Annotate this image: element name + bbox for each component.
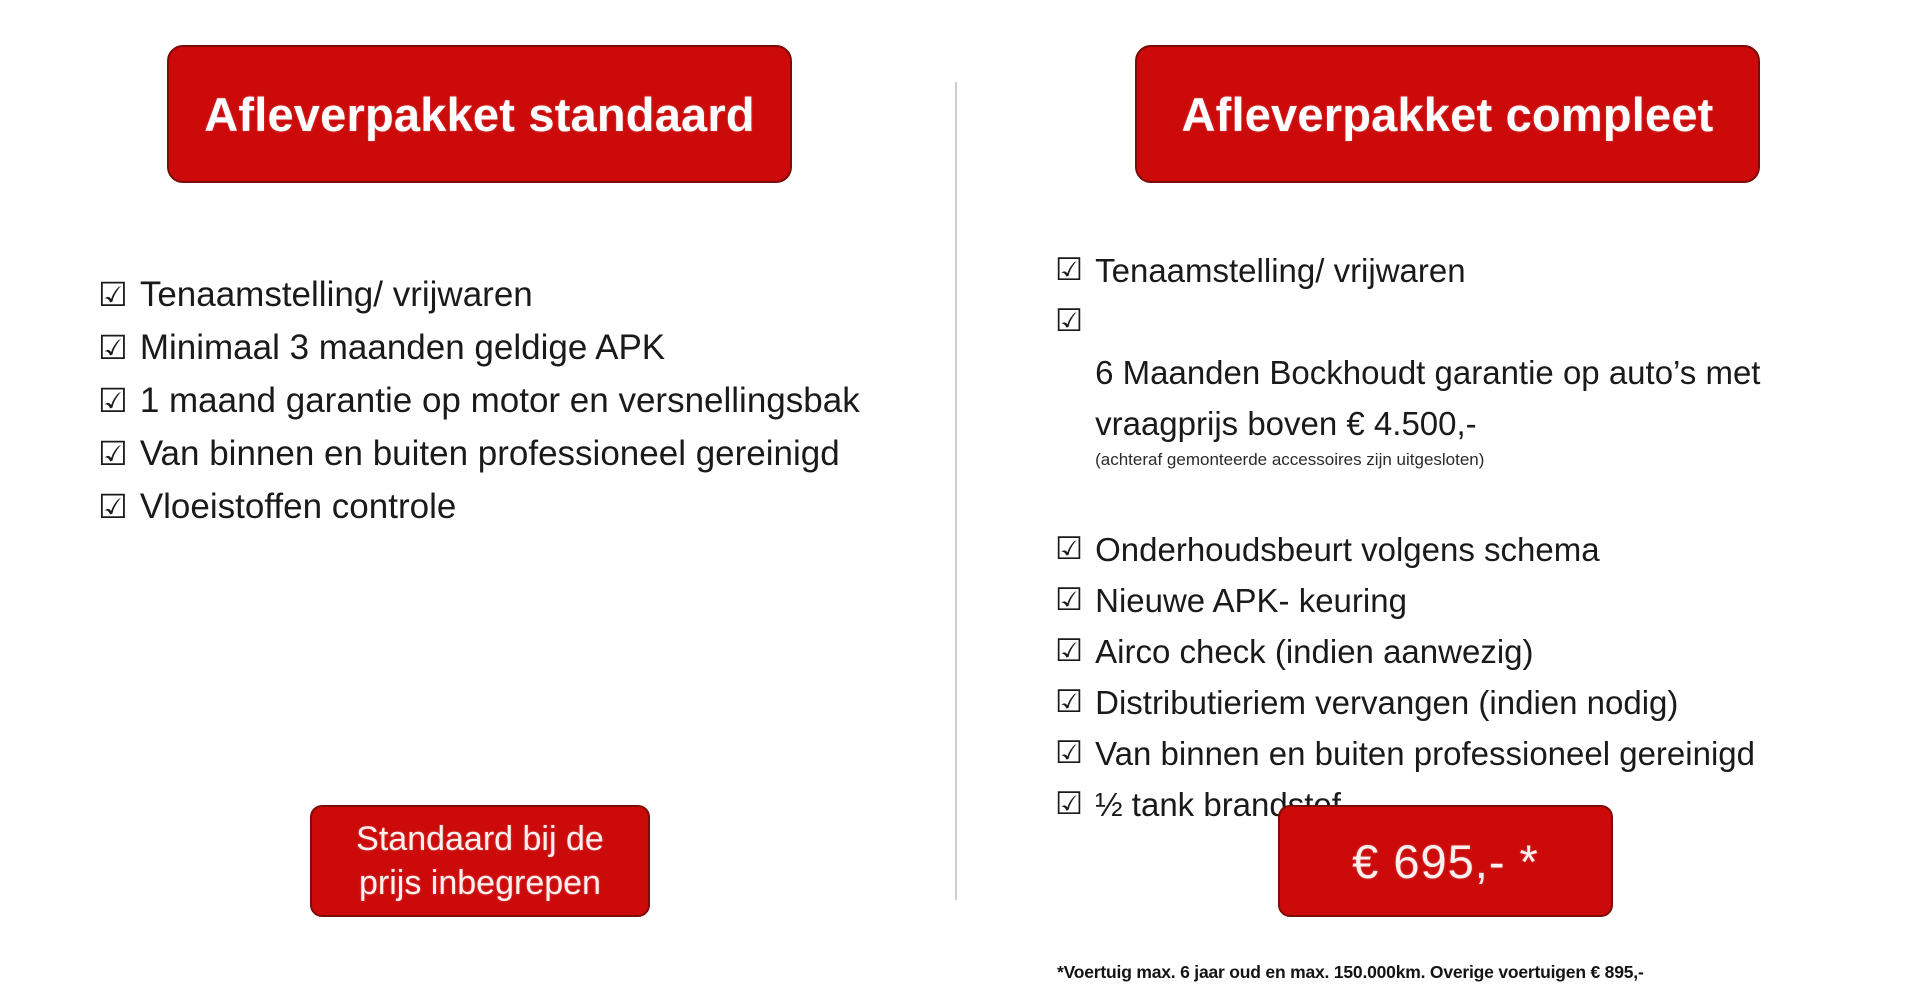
- checkbox-checked-icon: ☑: [98, 268, 128, 321]
- list-item: ☑ Minimaal 3 maanden geldige APK: [98, 321, 888, 374]
- checkbox-checked-icon: ☑: [1055, 779, 1083, 830]
- list-item-label: Onderhoudsbeurt volgens schema: [1095, 524, 1885, 575]
- slide-root: Afleverpakket standaard ☑ Tenaamstelling…: [0, 0, 1920, 1005]
- checkbox-checked-icon: ☑: [98, 321, 128, 374]
- list-item-label: Tenaamstelling/ vrijwaren: [140, 268, 888, 321]
- list-item: ☑ Airco check (indien aanwezig): [1055, 626, 1885, 677]
- footnote-text: *Voertuig max. 6 jaar oud en max. 150.00…: [1057, 962, 1907, 983]
- list-item-label: Nieuwe APK- keuring: [1095, 575, 1885, 626]
- checkbox-checked-icon: ☑: [98, 427, 128, 480]
- checkbox-checked-icon: ☑: [1055, 728, 1083, 779]
- checkbox-checked-icon: ☑: [1055, 245, 1083, 296]
- list-item: ☑ Tenaamstelling/ vrijwaren: [1055, 245, 1885, 296]
- list-item: ☑ Tenaamstelling/ vrijwaren: [98, 268, 888, 321]
- checkbox-checked-icon: ☑: [1055, 296, 1083, 347]
- list-item: ☑ Distributieriem vervangen (indien nodi…: [1055, 677, 1885, 728]
- checklist-standaard: ☑ Tenaamstelling/ vrijwaren ☑ Minimaal 3…: [98, 268, 888, 533]
- list-item: ☑ Vloeistoffen controle: [98, 480, 888, 533]
- list-item: ☑ 6 Maanden Bockhoudt garantie op auto’s…: [1055, 296, 1885, 524]
- list-item: ☑ 1 maand garantie op motor en versnelli…: [98, 374, 888, 427]
- list-item-label: Distributieriem vervangen (indien nodig): [1095, 677, 1885, 728]
- list-item: ☑ Van binnen en buiten professioneel ger…: [1055, 728, 1885, 779]
- checkbox-checked-icon: ☑: [1055, 575, 1083, 626]
- header-badge-standaard: Afleverpakket standaard: [167, 45, 792, 183]
- list-item-label: Minimaal 3 maanden geldige APK: [140, 321, 888, 374]
- list-item-label: 1 maand garantie op motor en versnelling…: [140, 374, 888, 427]
- column-standaard: Afleverpakket standaard ☑ Tenaamstelling…: [0, 0, 955, 1005]
- checkbox-checked-icon: ☑: [98, 480, 128, 533]
- badge-price-compleet: € 695,- *: [1278, 805, 1613, 917]
- list-item-label: Tenaamstelling/ vrijwaren: [1095, 245, 1885, 296]
- list-item: ☑ Nieuwe APK- keuring: [1055, 575, 1885, 626]
- checkbox-checked-icon: ☑: [1055, 626, 1083, 677]
- badge-standaard-inbegrepen: Standaard bij de prijs inbegrepen: [310, 805, 650, 917]
- list-item-label: Vloeistoffen controle: [140, 480, 888, 533]
- list-item-note: (achteraf gemonteerde accessoires zijn u…: [1095, 447, 1885, 473]
- checkbox-checked-icon: ☑: [1055, 524, 1083, 575]
- list-item-label: Airco check (indien aanwezig): [1095, 626, 1885, 677]
- list-item-label: 6 Maanden Bockhoudt garantie op auto’s m…: [1095, 296, 1885, 524]
- list-item-label: Van binnen en buiten professioneel gerei…: [1095, 728, 1885, 779]
- checkbox-checked-icon: ☑: [1055, 677, 1083, 728]
- list-item: ☑ Van binnen en buiten professioneel ger…: [98, 427, 888, 480]
- list-item: ☑ Onderhoudsbeurt volgens schema: [1055, 524, 1885, 575]
- checklist-compleet: ☑ Tenaamstelling/ vrijwaren ☑ 6 Maanden …: [1055, 245, 1885, 830]
- header-badge-compleet: Afleverpakket compleet: [1135, 45, 1760, 183]
- list-item-label: Van binnen en buiten professioneel gerei…: [140, 427, 888, 480]
- checkbox-checked-icon: ☑: [98, 374, 128, 427]
- list-item-text: 6 Maanden Bockhoudt garantie op auto’s m…: [1095, 354, 1760, 442]
